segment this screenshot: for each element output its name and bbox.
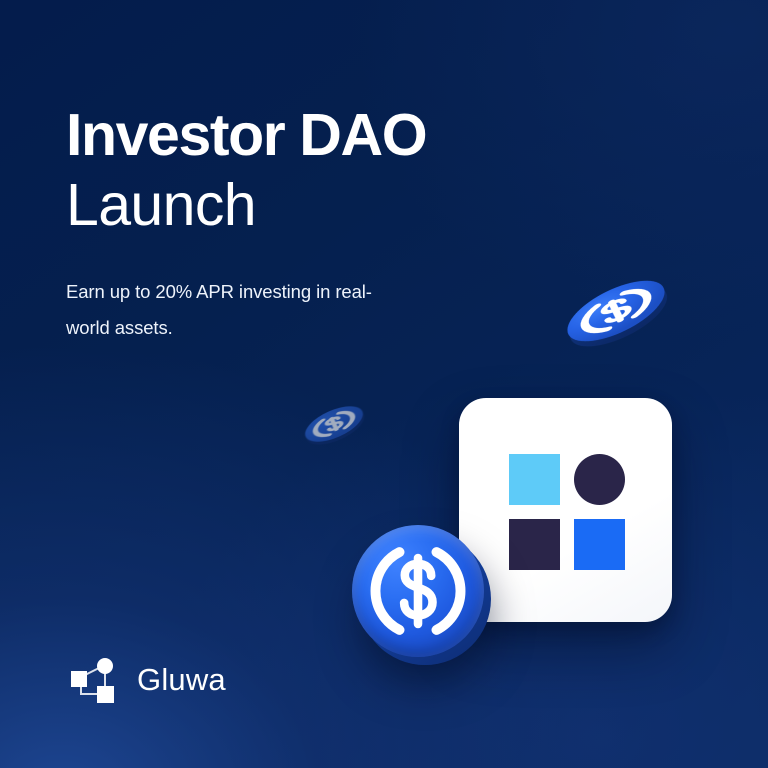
brand-lockup: Gluwa	[68, 654, 226, 706]
usdc-coin-small	[300, 399, 368, 449]
brand-name-label: Gluwa	[137, 662, 226, 698]
tile-blue-square	[574, 519, 625, 570]
headline-line-2: Launch	[66, 171, 536, 241]
tile-navy-square	[509, 519, 560, 570]
subheadline-text: Earn up to 20% APR investing in real-wor…	[66, 274, 376, 346]
usdc-dollar-icon	[352, 525, 484, 657]
headline-line-1: Investor DAO	[66, 104, 536, 167]
tile-light-blue-square	[509, 454, 560, 505]
gluwa-node-graph-icon	[68, 654, 120, 706]
headline-block: Investor DAO Launch Earn up to 20% APR i…	[66, 104, 536, 346]
tile-grid	[509, 454, 625, 570]
usdc-coin-large	[352, 525, 484, 657]
asset-tile-card	[459, 398, 672, 622]
tile-navy-circle	[574, 454, 625, 505]
usdc-coin-mid	[559, 268, 673, 353]
promo-canvas: Investor DAO Launch Earn up to 20% APR i…	[0, 0, 768, 768]
